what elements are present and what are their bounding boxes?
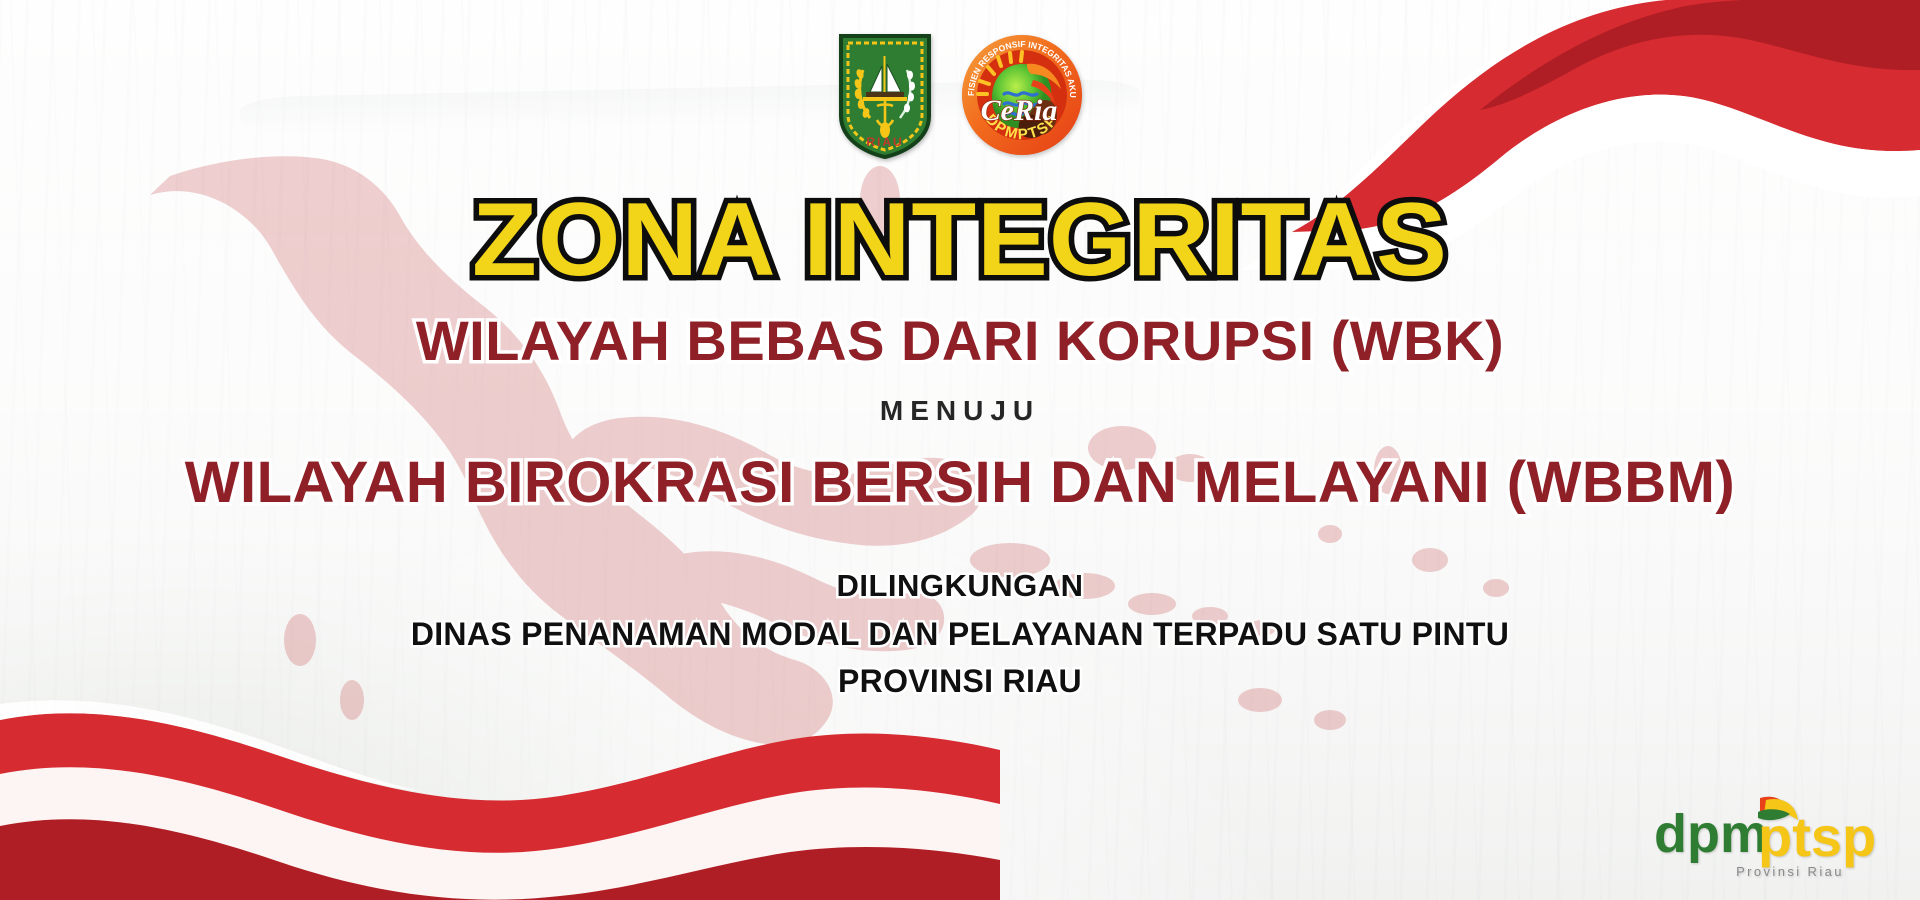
ptsp-text: ptsp bbox=[1758, 805, 1876, 868]
footer-province: PROVINSI RIAU bbox=[0, 663, 1920, 700]
page-title: ZONA INTEGRITAS bbox=[0, 188, 1920, 292]
dpmptsp-wordmark-icon: dpm ptsp Provinsi Riau bbox=[1640, 786, 1890, 882]
zona-integritas-banner: RIAU bbox=[0, 0, 1920, 900]
footer-scope-label: DILINGKUNGAN bbox=[0, 568, 1920, 604]
subtitle-wbk: WILAYAH BEBAS DARI KORUPSI (WBK) bbox=[0, 308, 1920, 373]
footer-block: DILINGKUNGAN DINAS PENANAMAN MODAL DAN P… bbox=[0, 568, 1920, 700]
footer-institution: DINAS PENANAMAN MODAL DAN PELAYANAN TERP… bbox=[0, 616, 1920, 653]
banner-content: ZONA INTEGRITAS WILAYAH BEBAS DARI KORUP… bbox=[0, 0, 1920, 700]
dpm-text: dpm bbox=[1654, 804, 1768, 864]
connector-menuju: MENUJU bbox=[0, 395, 1920, 427]
provinsi-riau-text: Provinsi Riau bbox=[1736, 864, 1844, 879]
subtitle-wbbm: WILAYAH BIROKRASI BERSIH DAN MELAYANI (W… bbox=[0, 449, 1920, 516]
